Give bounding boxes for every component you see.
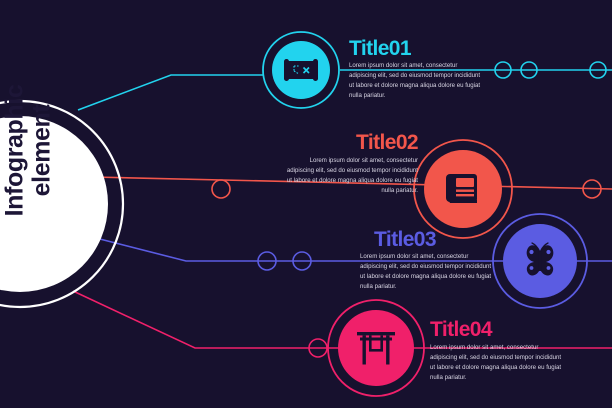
hub-disc [0, 116, 108, 292]
hub-circle [0, 101, 123, 307]
body-row-03: Lorem ipsum dolor sit amet, consectetur … [360, 252, 492, 291]
body-row-04: Lorem ipsum dolor sit amet, consectetur … [430, 343, 562, 382]
treasure-map-icon [284, 59, 318, 81]
connector-line-row-01 [78, 75, 264, 110]
book-icon [446, 174, 477, 203]
title-row-02[interactable]: Title02 [286, 131, 418, 155]
marker-dot[interactable] [212, 180, 230, 198]
title-row-04[interactable]: Title04 [430, 318, 492, 342]
infographic-canvas: Infographic element Title01 Lorem ipsum … [0, 0, 612, 408]
badge-disc-row-04 [338, 310, 414, 386]
body-row-02: Lorem ipsum dolor sit amet, consectetur … [286, 156, 418, 195]
title-row-03[interactable]: Title03 [374, 228, 436, 252]
node-row-04[interactable] [309, 300, 424, 396]
title-row-01[interactable]: Title01 [349, 37, 411, 61]
body-row-01: Lorem ipsum dolor sit amet, consectetur … [349, 61, 481, 100]
